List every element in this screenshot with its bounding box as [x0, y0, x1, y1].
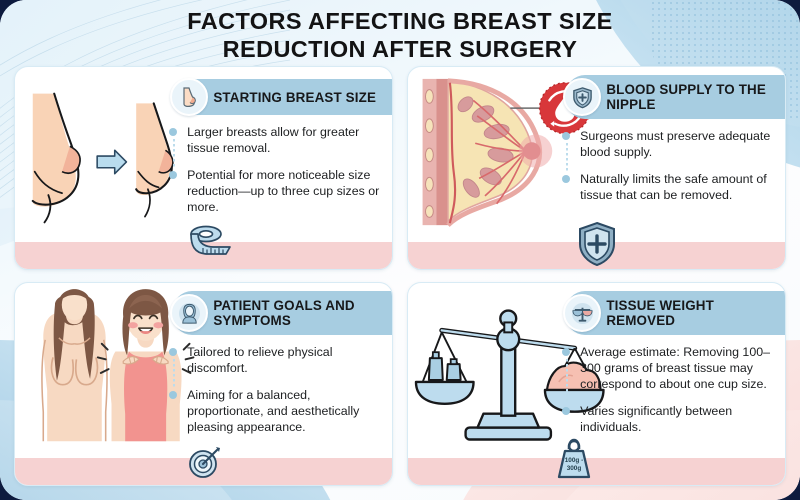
bullet-dot-icon: [562, 175, 570, 183]
card-heading: PATIENT GOALS AND SYMPTOMS: [213, 298, 392, 328]
measuring-tape-icon: [184, 225, 238, 265]
bullet-dot-icon: [169, 128, 177, 136]
weight-kettlebell-icon: 100g - 300g: [551, 437, 597, 483]
bullet-connector-line: [566, 359, 568, 404]
card-heading: STARTING BREAST SIZE: [213, 90, 382, 105]
bullet-dot-icon: [169, 348, 177, 356]
card-header-starting-breast-size: STARTING BREAST SIZE: [173, 79, 392, 115]
page-title-line-1: FACTORS AFFECTING BREAST SIZE: [0, 8, 800, 36]
card-header-patient-goals-and-symptoms: PATIENT GOALS AND SYMPTOMS: [173, 291, 392, 335]
weight-label-line-2: 300g: [567, 465, 582, 472]
bullet-item: Naturally limits the safe amount of tiss…: [560, 172, 775, 204]
bullet-item: Tailored to relieve physical discomfort.: [167, 345, 382, 377]
card-header-blood-supply-to-the-nipple: BLOOD SUPPLY TO THE NIPPLE: [566, 75, 785, 119]
infographic-canvas: FACTORS AFFECTING BREAST SIZE REDUCTION …: [0, 0, 800, 500]
page-title-line-2: REDUCTION AFTER SURGERY: [0, 36, 800, 64]
card-starting-breast-size[interactable]: STARTING BREAST SIZE Larger breasts allo…: [14, 66, 393, 270]
factor-card-grid: STARTING BREAST SIZE Larger breasts allo…: [14, 66, 786, 486]
bullet-dot-icon: [169, 391, 177, 399]
bullet-text: Average estimate: Removing 100–300 grams…: [580, 345, 770, 391]
bullet-item: Surgeons must preserve adequate blood su…: [560, 129, 775, 161]
weight-label-line-1: 100g -: [565, 457, 583, 464]
bullet-dot-icon: [562, 407, 570, 415]
page-title: FACTORS AFFECTING BREAST SIZE REDUCTION …: [0, 8, 800, 63]
bullet-list-starting-breast-size: Larger breasts allow for greater tissue …: [167, 125, 382, 215]
bullet-connector-line: [566, 143, 568, 172]
bullet-text: Potential for more noticeable size reduc…: [187, 168, 379, 214]
card-body: PATIENT GOALS AND SYMPTOMS Tailored to r…: [15, 283, 392, 485]
card-patient-goals-and-symptoms[interactable]: PATIENT GOALS AND SYMPTOMS Tailored to r…: [14, 282, 393, 486]
bullet-text: Naturally limits the safe amount of tiss…: [580, 172, 767, 202]
balance-scale-icon: [563, 294, 601, 332]
bullet-item: Larger breasts allow for greater tissue …: [167, 125, 382, 157]
card-body: STARTING BREAST SIZE Larger breasts allo…: [15, 67, 392, 269]
breast-profile-icon: [170, 78, 208, 116]
bullet-dot-icon: [562, 132, 570, 140]
card-header-tissue-weight-removed: TISSUE WEIGHT REMOVED: [566, 291, 785, 335]
bullet-dot-icon: [562, 348, 570, 356]
card-blood-supply-to-the-nipple[interactable]: BLOOD SUPPLY TO THE NIPPLE Surgeons must…: [407, 66, 786, 270]
target-dart-icon: [186, 445, 222, 479]
shield-plus-icon: [577, 221, 617, 267]
bullet-item: Average estimate: Removing 100–300 grams…: [560, 345, 775, 393]
transform-arrow-icon: [97, 150, 126, 173]
bullet-item: Aiming for a balanced, proportionate, an…: [167, 388, 382, 436]
card-heading: TISSUE WEIGHT REMOVED: [606, 298, 785, 328]
bullet-text: Larger breasts allow for greater tissue …: [187, 125, 359, 155]
bullet-item: Varies significantly between individuals…: [560, 404, 775, 436]
bullet-list-blood-supply-to-the-nipple: Surgeons must preserve adequate blood su…: [560, 129, 775, 204]
card-heading: BLOOD SUPPLY TO THE NIPPLE: [606, 82, 785, 112]
bullet-text: Aiming for a balanced, proportionate, an…: [187, 388, 359, 434]
bullet-text: Tailored to relieve physical discomfort.: [187, 345, 332, 375]
card-body: TISSUE WEIGHT REMOVED Average estimate: …: [408, 283, 785, 485]
breast-profile-before-after-illustration: [23, 81, 189, 237]
bullet-connector-line: [173, 359, 175, 388]
card-tissue-weight-removed[interactable]: TISSUE WEIGHT REMOVED Average estimate: …: [407, 282, 786, 486]
bullet-dot-icon: [169, 171, 177, 179]
bullet-text: Varies significantly between individuals…: [580, 404, 732, 434]
bullet-list-patient-goals-and-symptoms: Tailored to relieve physical discomfort.…: [167, 345, 382, 435]
bullet-list-tissue-weight-removed: Average estimate: Removing 100–300 grams…: [560, 345, 775, 435]
bullet-item: Potential for more noticeable size reduc…: [167, 168, 382, 216]
bullet-connector-line: [173, 139, 175, 168]
card-body: BLOOD SUPPLY TO THE NIPPLE Surgeons must…: [408, 67, 785, 269]
patient-portrait-icon: [170, 294, 208, 332]
shield-plus-icon: [563, 78, 601, 116]
bullet-text: Surgeons must preserve adequate blood su…: [580, 129, 770, 159]
